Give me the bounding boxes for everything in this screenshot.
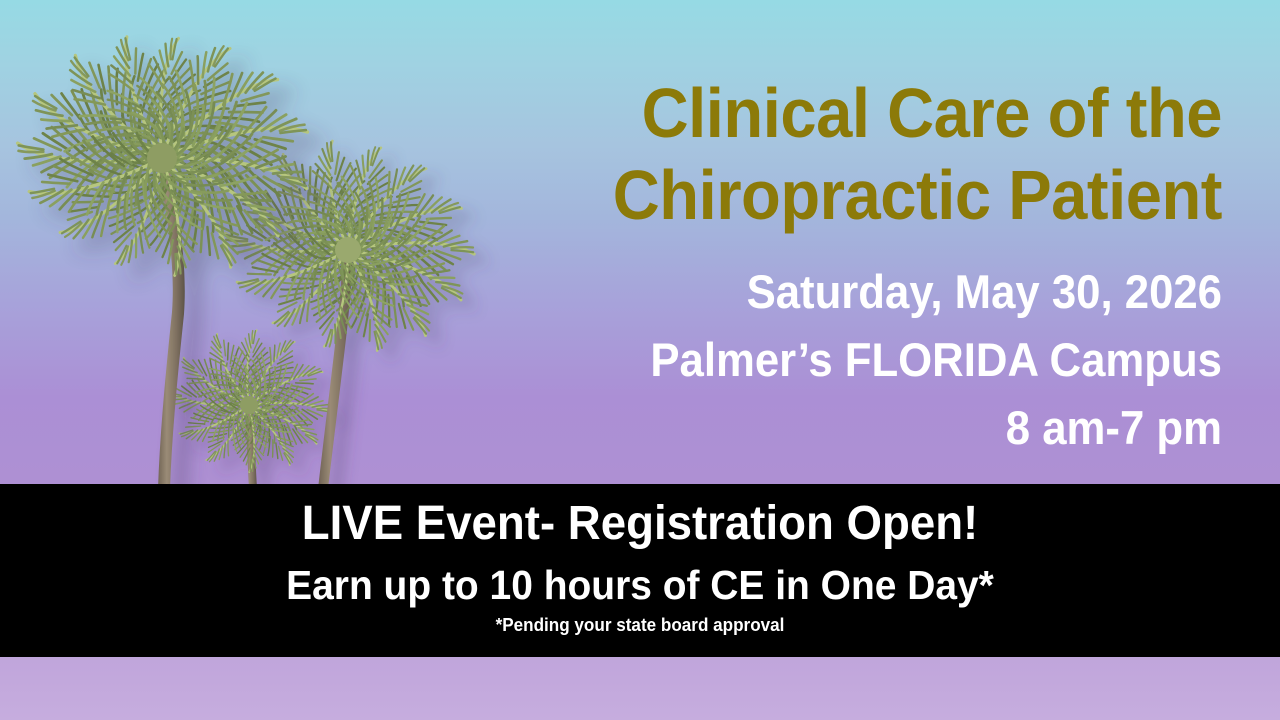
event-time: 8 am-7 pm (497, 394, 1222, 462)
disclaimer-text: *Pending your state board approval (32, 613, 1248, 637)
event-title: Clinical Care of the Chiropractic Patien… (442, 72, 1222, 236)
bottom-color-strip (0, 657, 1280, 720)
event-date: Saturday, May 30, 2026 (497, 258, 1222, 326)
title-line-2: Chiropractic Patient (497, 154, 1222, 236)
event-promo-banner: Clinical Care of the Chiropractic Patien… (0, 0, 1280, 720)
event-details: Saturday, May 30, 2026 Palmer’s FLORIDA … (442, 258, 1222, 462)
ce-hours-text: Earn up to 10 hours of CE in One Day* (32, 560, 1248, 610)
title-line-1: Clinical Care of the (497, 72, 1222, 154)
event-location: Palmer’s FLORIDA Campus (497, 326, 1222, 394)
registration-headline: LIVE Event- Registration Open! (32, 495, 1248, 553)
registration-banner: LIVE Event- Registration Open! Earn up t… (0, 484, 1280, 657)
